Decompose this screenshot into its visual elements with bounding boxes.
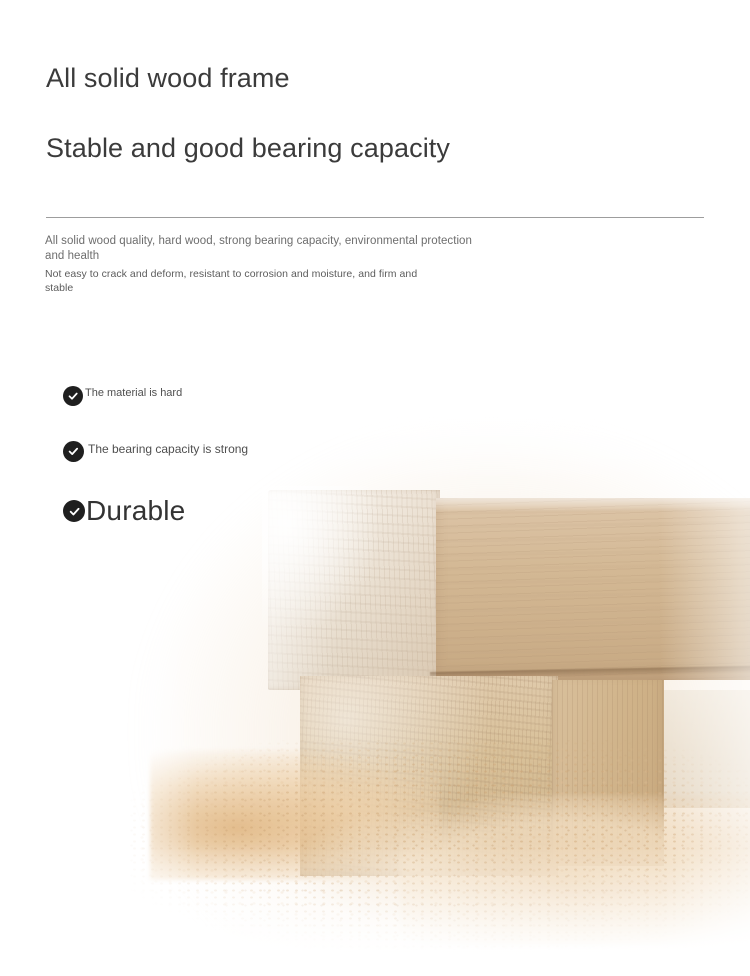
content-layer: All solid wood frame Stable and good bea… [0, 0, 750, 976]
check-circle-icon [63, 500, 85, 522]
page-title: All solid wood frame [46, 63, 290, 94]
section-divider [46, 217, 704, 218]
page-subtitle: Stable and good bearing capacity [46, 131, 466, 165]
check-circle-icon [63, 441, 84, 462]
check-circle-icon [63, 386, 83, 406]
feature-item-label: Durable [86, 495, 185, 527]
feature-item-label: The material is hard [85, 386, 182, 400]
feature-item-bearing-capacity: The bearing capacity is strong [63, 441, 248, 462]
feature-item-label: The bearing capacity is strong [88, 441, 248, 456]
feature-item-durable: Durable [63, 495, 185, 527]
description-secondary: Not easy to crack and deform, resistant … [45, 267, 445, 295]
description-primary: All solid wood quality, hard wood, stron… [45, 234, 475, 263]
product-feature-page: All solid wood frame Stable and good bea… [0, 0, 750, 976]
feature-item-material-hard: The material is hard [63, 386, 182, 406]
